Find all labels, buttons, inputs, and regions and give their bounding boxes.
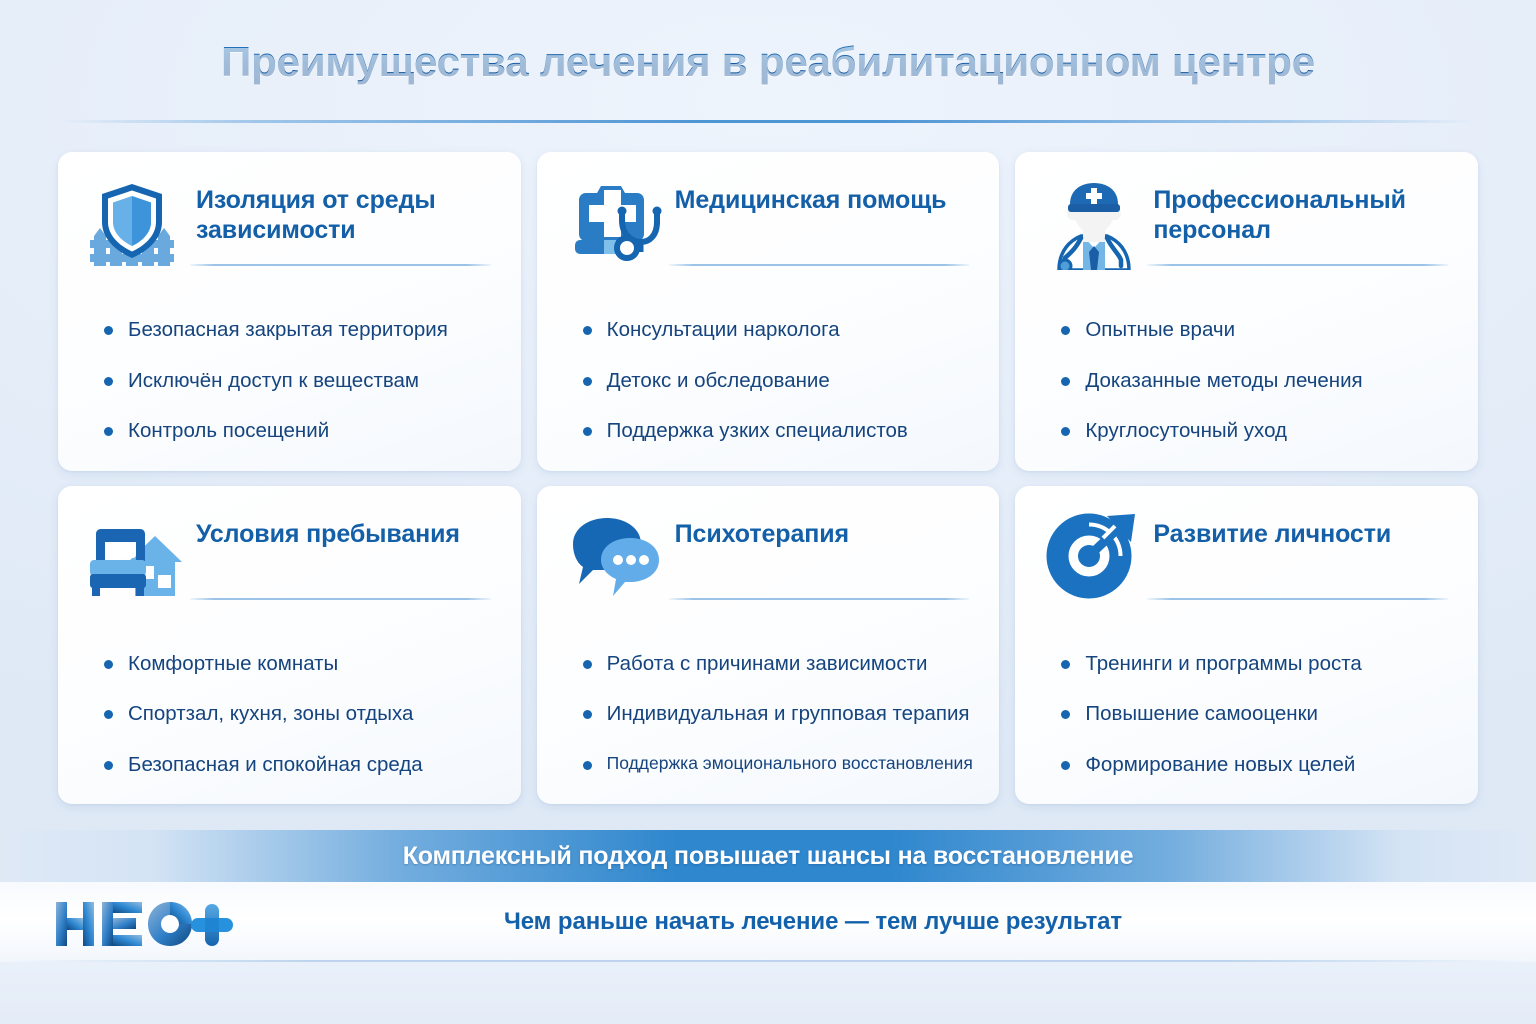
list-item: Консультации нарколога [581, 318, 970, 343]
summary-banner: Комплексный подход повышает шансы на вос… [0, 830, 1536, 882]
page-title: Преимущества лечения в реабилитационном … [0, 38, 1536, 86]
target-arrow-icon [1045, 512, 1141, 604]
card-header: Развитие личности [1045, 512, 1448, 604]
card-bullet-list: Консультации нарколога Детокс и обследов… [567, 318, 970, 444]
benefit-card-professional-staff[interactable]: Профессиональный персонал Опытные врачи … [1015, 152, 1478, 471]
benefit-card-medical-help[interactable]: Медицинская помощь Консультации нарколог… [537, 152, 1000, 471]
list-item: Поддержка эмоционального восстановления [581, 753, 970, 774]
footer: Чем раньше начать лечение — тем лучше ре… [0, 882, 1536, 962]
doctor-icon [1045, 178, 1141, 270]
list-item: Контроль посещений [102, 419, 491, 444]
card-header: Профессиональный персонал [1045, 178, 1448, 270]
summary-banner-text: Комплексный подход повышает шансы на вос… [403, 842, 1134, 871]
card-title: Условия пребывания [196, 512, 491, 550]
list-item: Поддержка узких специалистов [581, 419, 970, 444]
card-divider [669, 598, 970, 600]
list-item: Формирование новых целей [1059, 753, 1448, 778]
list-item: Исключён доступ к веществам [102, 369, 491, 394]
card-header: Изоляция от среды зависимости [88, 178, 491, 270]
speech-bubbles-icon [567, 512, 663, 604]
card-divider [1147, 598, 1448, 600]
card-bullet-list: Опытные врачи Доказанные методы лечения … [1045, 318, 1448, 444]
list-item: Безопасная и спокойная среда [102, 753, 491, 778]
benefit-card-psychotherapy[interactable]: Психотерапия Работа с причинами зависимо… [537, 486, 1000, 805]
card-title: Профессиональный персонал [1153, 178, 1448, 245]
card-title: Психотерапия [675, 512, 970, 550]
card-bullet-list: Комфортные комнаты Спортзал, кухня, зоны… [88, 652, 491, 778]
card-bullet-list: Тренинги и программы роста Повышение сам… [1045, 652, 1448, 778]
card-divider [669, 264, 970, 266]
card-title: Изоляция от среды зависимости [196, 178, 491, 245]
list-item: Безопасная закрытая территория [102, 318, 491, 343]
card-header: Медицинская помощь [567, 178, 970, 270]
card-divider [1147, 264, 1448, 266]
card-divider [190, 598, 491, 600]
list-item: Комфортные комнаты [102, 652, 491, 677]
list-item: Спортзал, кухня, зоны отдыха [102, 702, 491, 727]
card-title: Развитие личности [1153, 512, 1448, 550]
footer-background [0, 962, 1536, 1024]
bed-house-icon [88, 512, 184, 604]
benefit-card-personal-growth[interactable]: Развитие личности Тренинги и программы р… [1015, 486, 1478, 805]
list-item: Круглосуточный уход [1059, 419, 1448, 444]
list-item: Доказанные методы лечения [1059, 369, 1448, 394]
list-item: Тренинги и программы роста [1059, 652, 1448, 677]
list-item: Повышение самооценки [1059, 702, 1448, 727]
list-item: Работа с причинами зависимости [581, 652, 970, 677]
card-header: Условия пребывания [88, 512, 491, 604]
card-header: Психотерапия [567, 512, 970, 604]
medical-bag-stethoscope-icon [567, 178, 663, 270]
title-divider [58, 120, 1478, 123]
card-title: Медицинская помощь [675, 178, 970, 216]
benefit-card-accommodation[interactable]: Условия пребывания Комфортные комнаты Сп… [58, 486, 521, 805]
header: Преимущества лечения в реабилитационном … [0, 0, 1536, 128]
card-bullet-list: Работа с причинами зависимости Индивидуа… [567, 652, 970, 774]
footer-tagline: Чем раньше начать лечение — тем лучше ре… [0, 908, 1536, 936]
list-item: Индивидуальная и групповая терапия [581, 702, 970, 727]
list-item: Опытные врачи [1059, 318, 1448, 343]
list-item: Детокс и обследование [581, 369, 970, 394]
shield-fence-icon [88, 178, 184, 270]
card-bullet-list: Безопасная закрытая территория Исключён … [88, 318, 491, 444]
benefit-card-grid: Изоляция от среды зависимости Безопасная… [58, 152, 1478, 804]
card-divider [190, 264, 491, 266]
benefit-card-isolation[interactable]: Изоляция от среды зависимости Безопасная… [58, 152, 521, 471]
